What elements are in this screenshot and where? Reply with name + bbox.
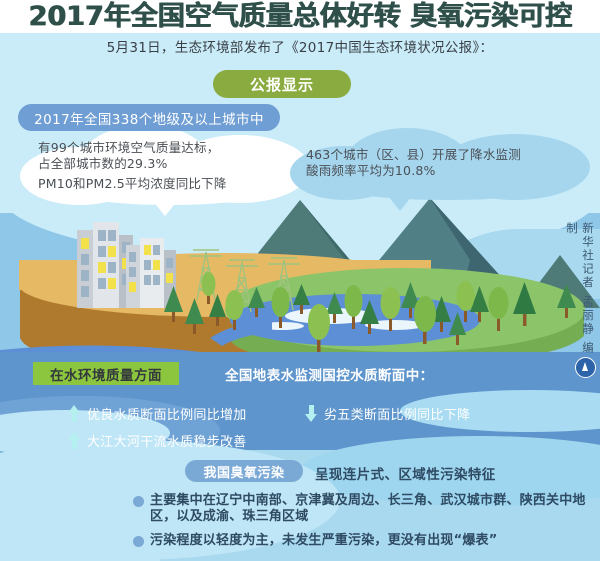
bulletin-badge: 公报显示 <box>213 70 351 98</box>
cities-badge: 2017年全国338个地级及以上城市中 <box>18 104 280 131</box>
subtitle: 5月31日，生态环境部发布了《2017中国生态环境状况公报》： <box>0 36 600 56</box>
air-line-2: 占全部城市数的29.3% <box>38 156 298 172</box>
water-stat-text: 大江大河干流水质稳步改善 <box>87 431 247 450</box>
bullet-dot-icon <box>133 496 144 507</box>
photographer-credit: 新华社记者 孟丽静 编制 <box>564 222 596 357</box>
landscape-svg <box>0 190 600 365</box>
rain-callout-text: 463个城市（区、县）开展了降水监测 酸雨频率平均为10.8% <box>306 147 591 179</box>
title-bar: 2017年全国空气质量总体好转 臭氧污染可控 <box>0 0 600 33</box>
ozone-bullet: 主要集中在辽宁中南部、京津冀及周边、长三角、武汉城市群、陕西关中地区，以及成渝、… <box>133 493 598 525</box>
landscape-illustration <box>0 190 600 365</box>
arrow-down-icon <box>305 405 318 422</box>
water-stat-row: 大江大河干流水质稳步改善 <box>68 431 247 450</box>
air-line-1: 有99个城市环境空气质量达标， <box>38 140 298 156</box>
bullet-dot-icon <box>133 536 144 547</box>
ozone-bullet: 污染程度以轻度为主，未发生严重污染，更没有出现“爆表” <box>133 533 598 549</box>
arrow-up-icon <box>68 432 81 449</box>
air-line-3: PM10和PM2.5平均浓度同比下降 <box>38 176 298 192</box>
water-section-heading: 全国地表水监测国控水质断面中： <box>225 364 434 384</box>
water-stat-text: 劣五类断面比例同比下降 <box>324 404 470 423</box>
ozone-section-label: 我国臭氧污染 <box>185 460 303 482</box>
infographic-poster: 2017年全国空气质量总体好转 臭氧污染可控 5月31日，生态环境部发布了《20… <box>0 0 600 561</box>
ozone-bullet-text: 污染程度以轻度为主，未发生严重污染，更没有出现“爆表” <box>150 533 498 549</box>
water-stat-text: 优良水质断面比例同比增加 <box>87 404 247 423</box>
water-section-label: 在水环境质量方面 <box>33 362 179 385</box>
arrow-up-icon <box>68 405 81 422</box>
water-stat-row: 劣五类断面比例同比下降 <box>305 404 470 423</box>
building-b-mid <box>140 238 164 308</box>
water-stat-row: 优良水质断面比例同比增加 <box>68 404 247 423</box>
ozone-summary: 呈现连片式、区域性污染特征 <box>315 463 496 483</box>
page-title: 2017年全国空气质量总体好转 臭氧污染可控 <box>28 2 572 32</box>
agency-logo-icon <box>575 357 596 378</box>
air-callout-text: 有99个城市环境空气质量达标， 占全部城市数的29.3% PM10和PM2.5平… <box>38 140 298 192</box>
rain-line-1: 463个城市（区、县）开展了降水监测 <box>306 147 591 163</box>
rain-line-2: 酸雨频率平均为10.8% <box>306 163 591 179</box>
ozone-bullet-text: 主要集中在辽宁中南部、京津冀及周边、长三角、武汉城市群、陕西关中地区，以及成渝、… <box>150 493 598 525</box>
